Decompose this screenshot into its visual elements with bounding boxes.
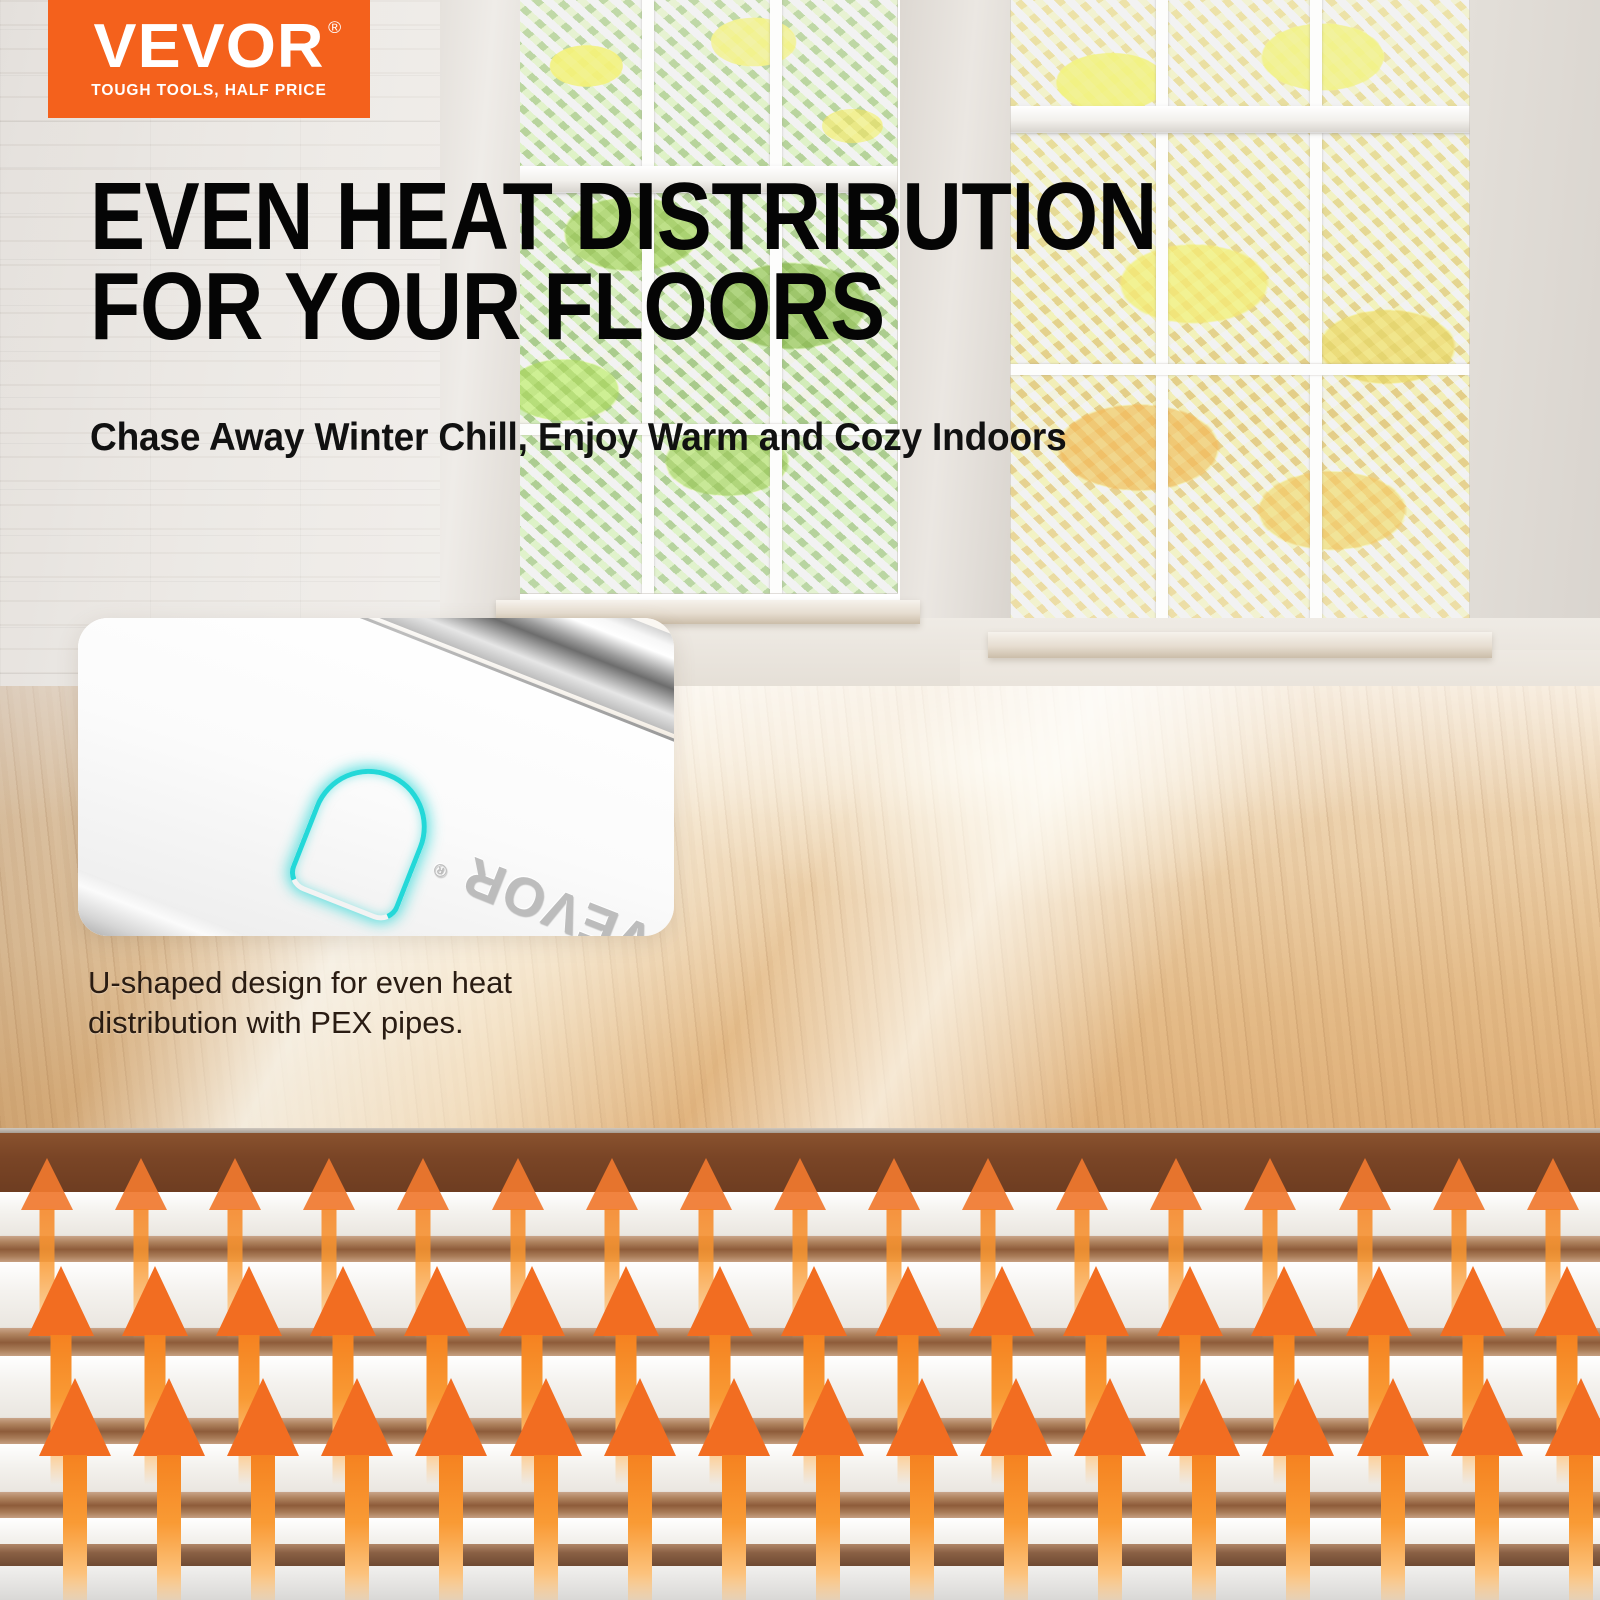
heat-arrow-icon [216, 1378, 310, 1600]
heat-arrow-icon [1440, 1378, 1534, 1600]
arrow-head [310, 1266, 376, 1336]
arrow-head [321, 1378, 393, 1456]
arrow-head [1056, 1158, 1108, 1210]
heat-arrow-icon [1157, 1378, 1251, 1600]
arrow-head [868, 1158, 920, 1210]
arrow-head [604, 1378, 676, 1456]
arrow-head [980, 1378, 1052, 1456]
arrow-head [962, 1158, 1014, 1210]
arrow-shaft [1569, 1455, 1593, 1600]
arrow-head [792, 1378, 864, 1456]
arrow-head [1346, 1266, 1412, 1336]
arrow-head [1157, 1266, 1223, 1336]
arrow-head [886, 1378, 958, 1456]
arrow-shaft [910, 1455, 934, 1600]
heat-arrow-icon [781, 1378, 875, 1600]
arrow-head [875, 1266, 941, 1336]
heat-arrow-icon [1251, 1378, 1345, 1600]
arrow-head [404, 1266, 470, 1336]
arrow-head [115, 1158, 167, 1210]
arrow-shaft [157, 1455, 181, 1600]
arrow-head [1251, 1266, 1317, 1336]
arrow-head [774, 1158, 826, 1210]
arrow-head [510, 1378, 582, 1456]
arrow-shaft [1286, 1455, 1310, 1600]
arrow-shaft [345, 1455, 369, 1600]
arrow-shaft [534, 1455, 558, 1600]
heat-arrow-icon [1063, 1378, 1157, 1600]
page-title: EVEN HEAT DISTRIBUTION FOR YOUR FLOORS [90, 172, 1225, 352]
arrow-head [680, 1158, 732, 1210]
arrow-shaft [439, 1455, 463, 1600]
arrow-head [21, 1158, 73, 1210]
lower-heat-row [0, 1378, 1600, 1600]
arrow-head [1150, 1158, 1202, 1210]
arrow-head [303, 1158, 355, 1210]
heat-arrow-icon [499, 1378, 593, 1600]
arrow-head [586, 1158, 638, 1210]
arrow-head [687, 1266, 753, 1336]
heat-arrow-icon [28, 1378, 122, 1600]
heat-arrow-icon [593, 1378, 687, 1600]
logo-wordmark: VEVOR® [94, 18, 325, 75]
arrow-head [1063, 1266, 1129, 1336]
arrow-head [969, 1266, 1035, 1336]
arrow-head [216, 1266, 282, 1336]
arrow-head [1074, 1378, 1146, 1456]
arrow-head [415, 1378, 487, 1456]
arrow-head [227, 1378, 299, 1456]
arrow-head [1545, 1378, 1600, 1456]
arrow-head [1244, 1158, 1296, 1210]
arrow-head [209, 1158, 261, 1210]
heat-arrow-icon [1346, 1378, 1440, 1600]
arrow-shaft [816, 1455, 840, 1600]
arrow-head [133, 1378, 205, 1456]
heat-arrow-icon [1534, 1378, 1600, 1600]
arrow-head [1527, 1158, 1579, 1210]
arrow-head [698, 1378, 770, 1456]
arrow-shaft [251, 1455, 275, 1600]
floor-underside-edge [0, 1128, 1600, 1133]
heat-arrow-icon [122, 1378, 216, 1600]
vevor-logo: VEVOR® TOUGH TOOLS, HALF PRICE [48, 0, 370, 118]
arrow-head [397, 1158, 449, 1210]
heat-arrow-icon [310, 1378, 404, 1600]
arrow-head [593, 1266, 659, 1336]
arrow-shaft [1004, 1455, 1028, 1600]
heat-arrow-icon [687, 1378, 781, 1600]
arrow-head [781, 1266, 847, 1336]
arrow-head [1339, 1158, 1391, 1210]
arrow-head [122, 1266, 188, 1336]
arrow-head [39, 1378, 111, 1456]
arrow-shaft [63, 1455, 87, 1600]
arrow-shaft [628, 1455, 652, 1600]
window-sill [988, 632, 1492, 658]
arrow-head [1357, 1378, 1429, 1456]
heat-arrow-icon [969, 1378, 1063, 1600]
arrow-head [1440, 1266, 1506, 1336]
arrow-shaft [1381, 1455, 1405, 1600]
arrow-head [1534, 1266, 1600, 1336]
product-detail-card: VEVOR ® [78, 618, 674, 936]
arrow-head [1451, 1378, 1523, 1456]
inset-caption: U-shaped design for even heat distributi… [88, 963, 628, 1042]
arrow-head [28, 1266, 94, 1336]
logo-tagline: TOUGH TOOLS, HALF PRICE [91, 82, 326, 100]
page-subtitle: Chase Away Winter Chill, Enjoy Warm and … [90, 416, 1067, 460]
arrow-head [499, 1266, 565, 1336]
heat-cross-section [0, 1128, 1600, 1600]
arrow-shaft [1098, 1455, 1122, 1600]
heat-arrow-icon [404, 1378, 498, 1600]
arrow-head [1168, 1378, 1240, 1456]
arrow-head [492, 1158, 544, 1210]
arrow-shaft [722, 1455, 746, 1600]
registered-mark-icon: ® [328, 20, 342, 36]
heat-arrow-icon [875, 1378, 969, 1600]
arrow-head [1262, 1378, 1334, 1456]
arrow-shaft [1192, 1455, 1216, 1600]
arrow-shaft [1475, 1455, 1499, 1600]
arrow-head [1433, 1158, 1485, 1210]
